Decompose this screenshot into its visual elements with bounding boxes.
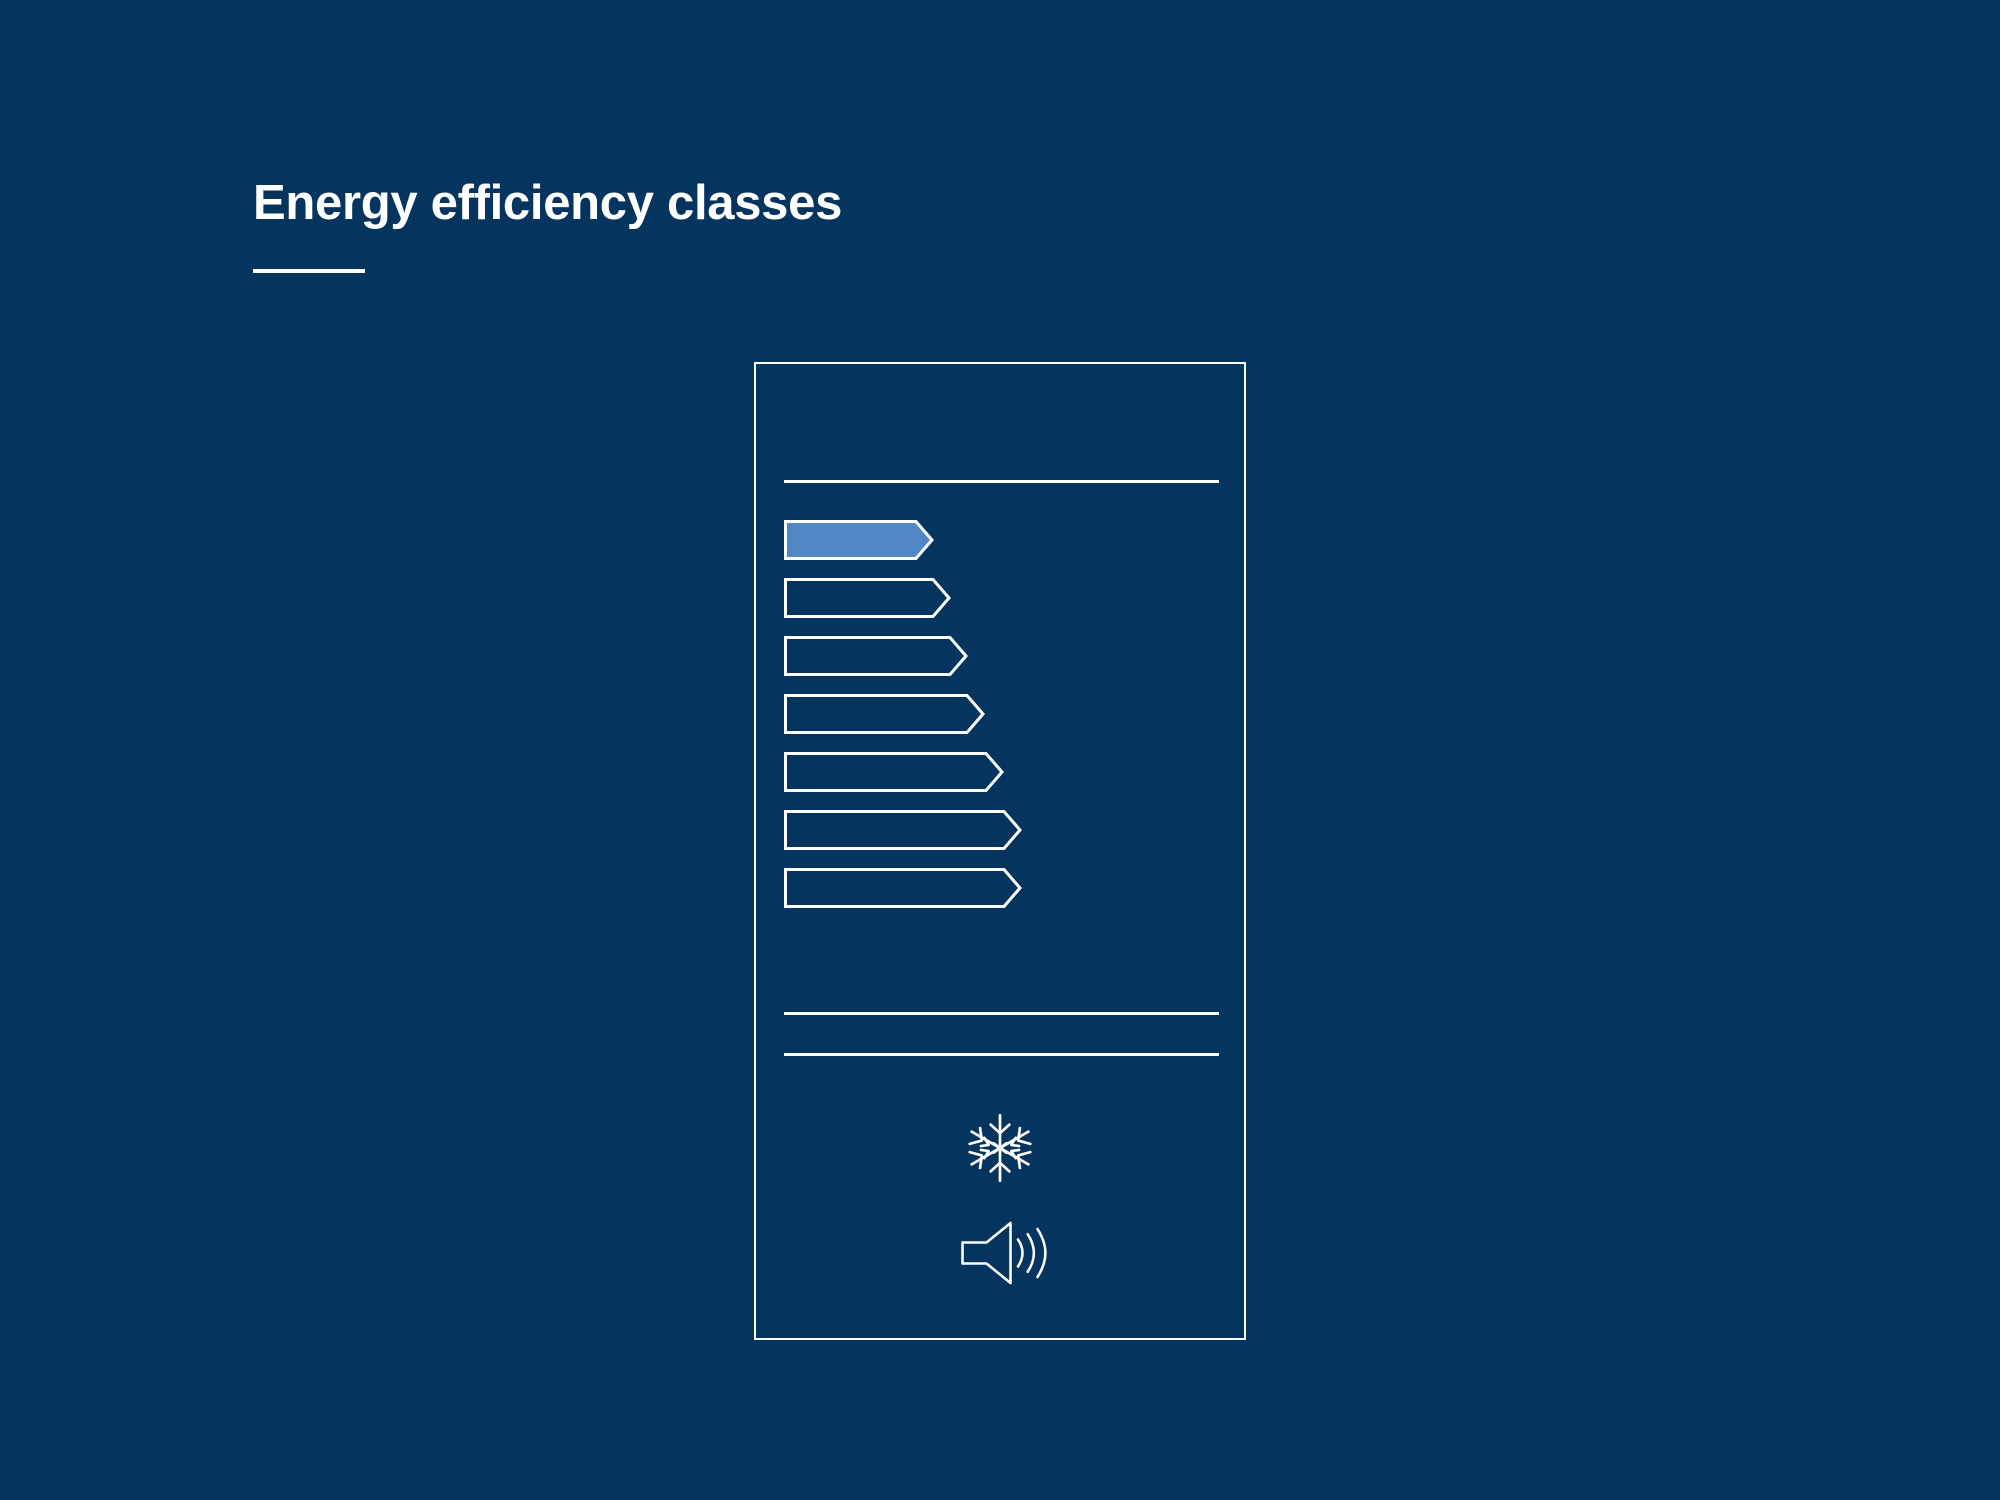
arrow-shape-2 — [784, 578, 971, 618]
card-divider-middle — [784, 1012, 1219, 1015]
card-icon-stack — [756, 1109, 1244, 1293]
energy-class-bar-chart — [784, 520, 1204, 908]
title-accent-rule — [253, 269, 365, 273]
energy-class-bar-4[interactable] — [784, 694, 1204, 734]
energy-class-bar-6[interactable] — [784, 810, 1204, 850]
energy-class-bar-5[interactable] — [784, 752, 1204, 792]
arrow-shape-1 — [784, 520, 954, 560]
arrow-shape-7 — [784, 868, 1042, 908]
speaker-icon — [958, 1218, 1048, 1293]
snowflake-icon — [961, 1109, 1039, 1192]
page-title: Energy efficiency classes — [253, 178, 842, 229]
header: Energy efficiency classes — [253, 178, 842, 273]
card-divider-bottom — [784, 1053, 1219, 1056]
energy-class-bar-7[interactable] — [784, 868, 1204, 908]
arrow-shape-3 — [784, 636, 988, 676]
energy-class-bar-3[interactable] — [784, 636, 1204, 676]
arrow-shape-5 — [784, 752, 1024, 792]
energy-class-bar-2[interactable] — [784, 578, 1204, 618]
energy-label-card — [754, 362, 1246, 1340]
energy-class-bar-1[interactable] — [784, 520, 1204, 560]
card-divider-top — [784, 480, 1219, 483]
arrow-shape-4 — [784, 694, 1005, 734]
arrow-shape-6 — [784, 810, 1042, 850]
